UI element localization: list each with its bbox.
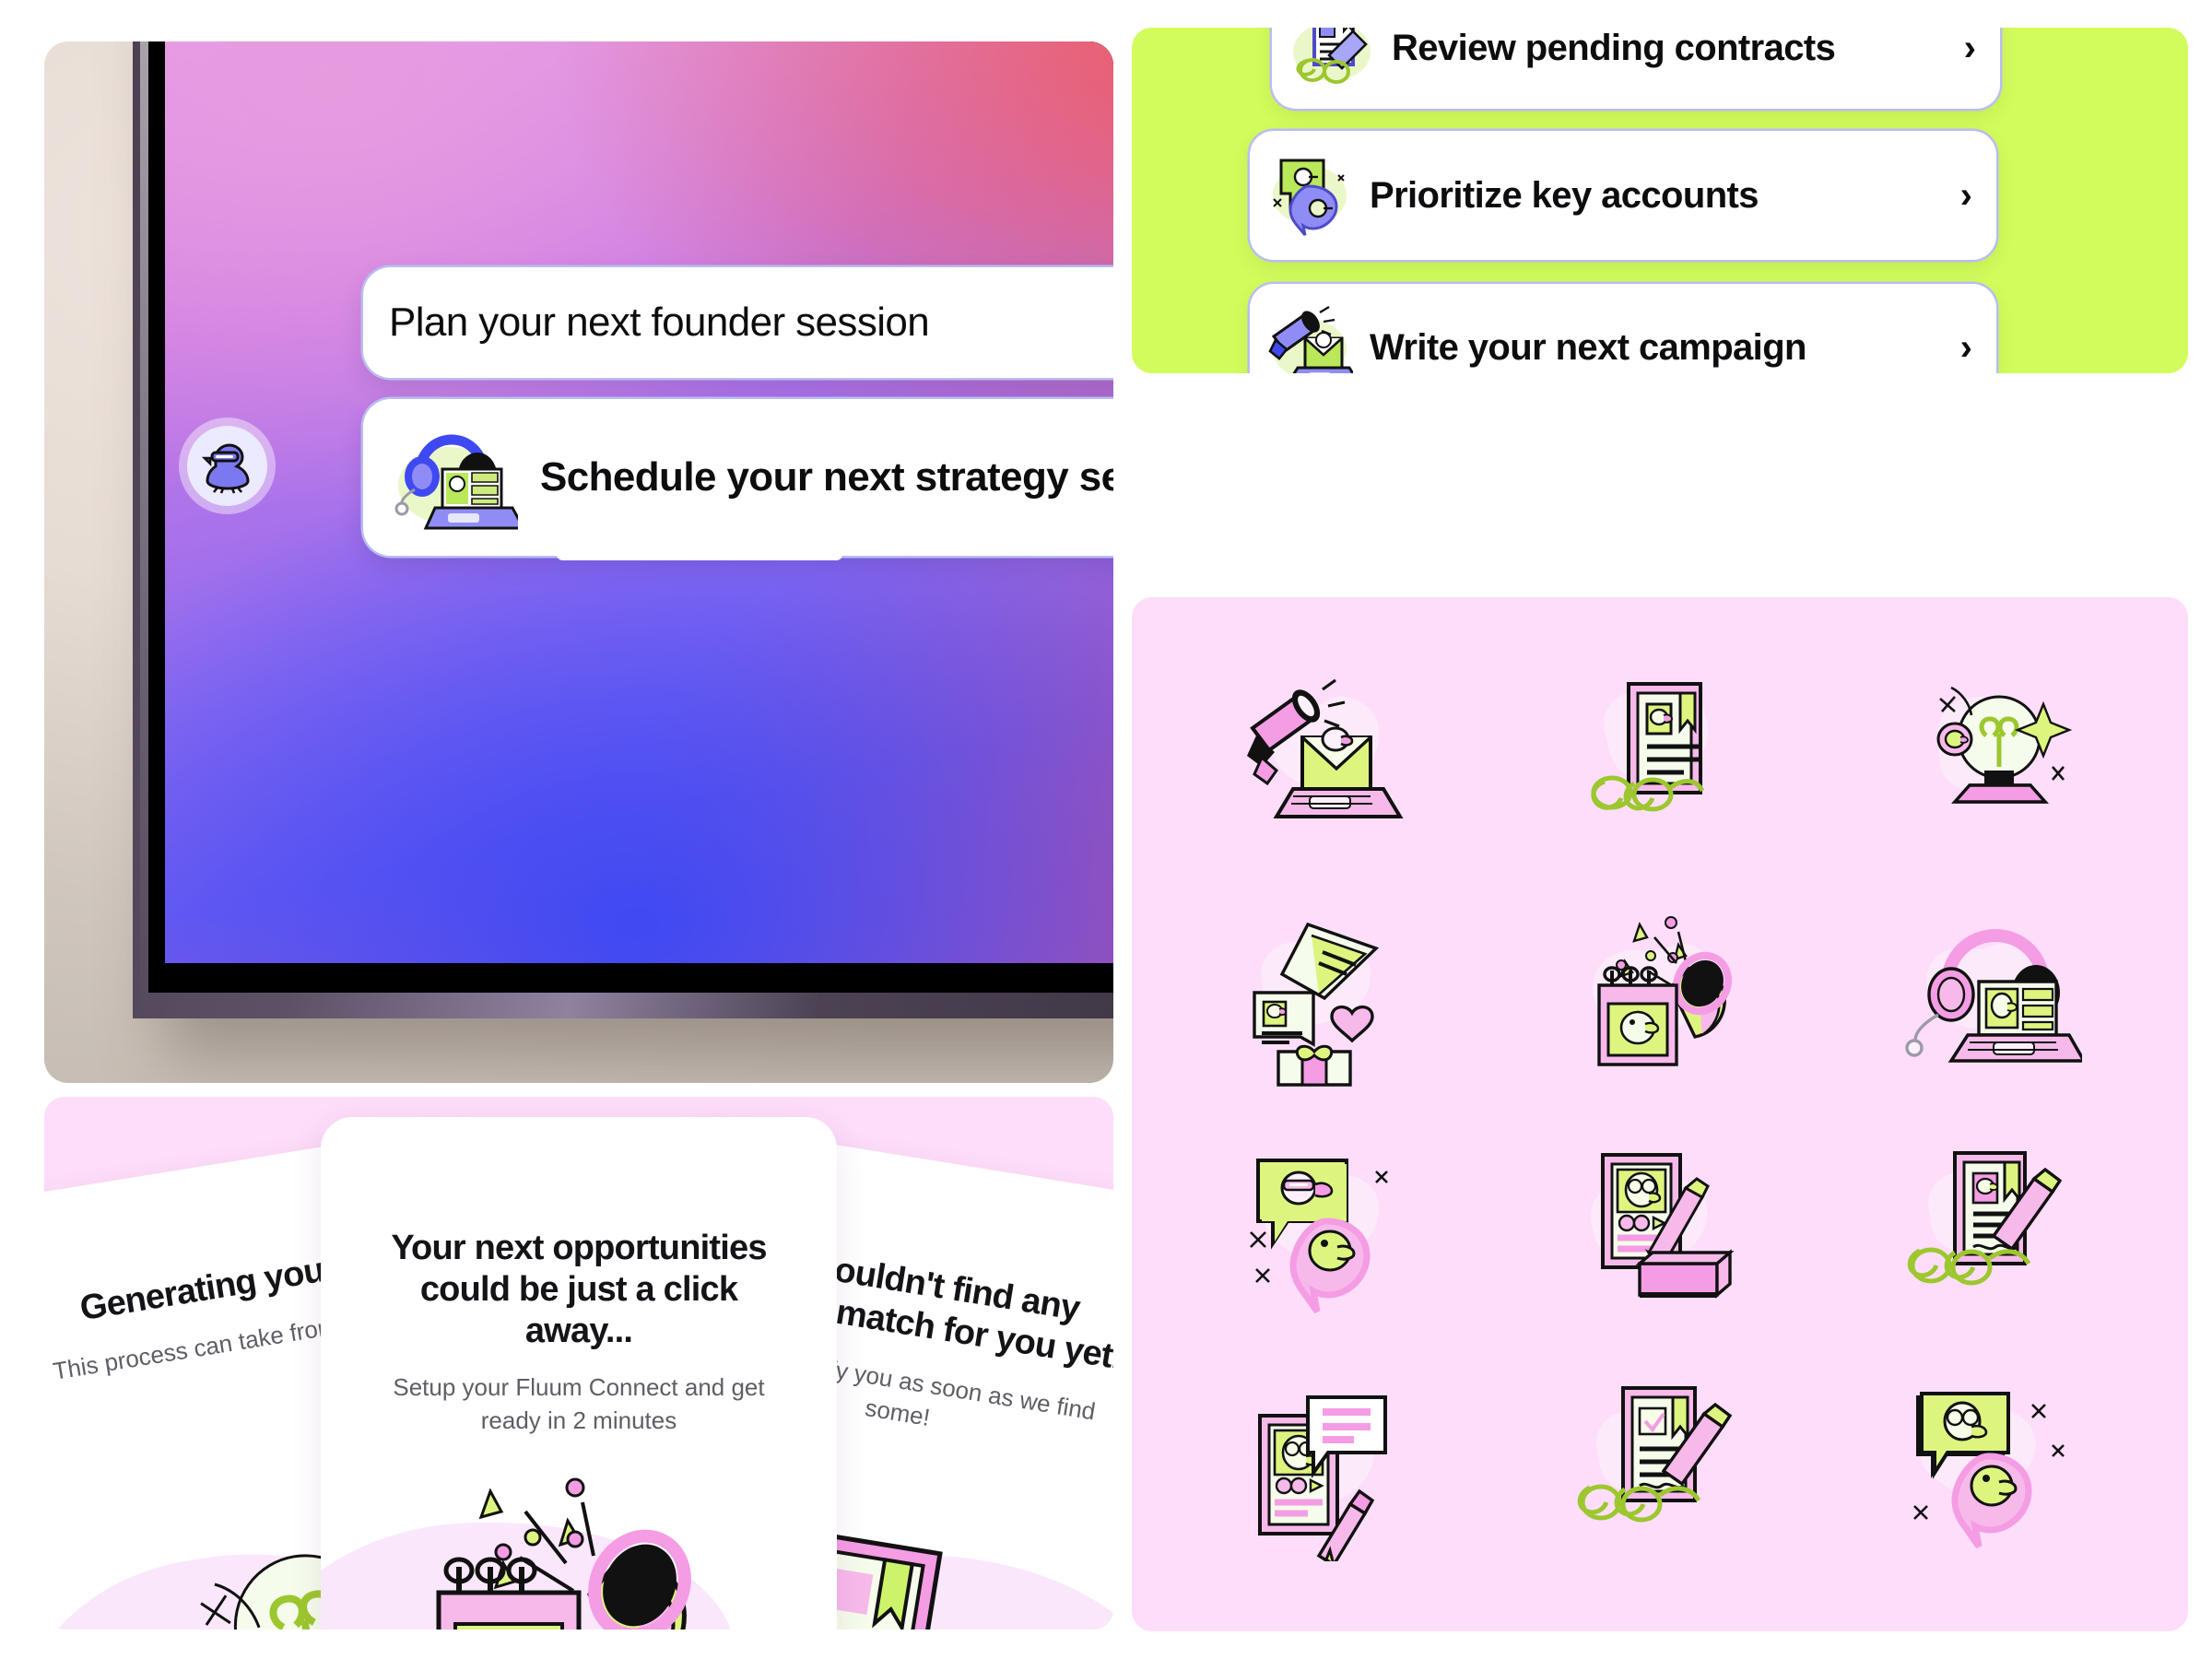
carousel-card-title: Your next opportunities could be just a … <box>374 1228 783 1351</box>
checklist-glasses-pencil-icon <box>1563 1372 1757 1566</box>
chevron-right-icon: › <box>1960 177 1972 214</box>
quick-action-review-pending-contracts[interactable]: Review pending contracts › <box>1272 28 2000 109</box>
phone-screen: Plan your next founder session <box>165 41 1113 963</box>
suggestion-card-label: Schedule your next strategy session <box>540 454 1113 500</box>
chat-bubble-duck-icon <box>1233 1135 1427 1329</box>
home-indicator <box>557 548 842 560</box>
document-glasses-bookmark-icon <box>1563 663 1757 856</box>
document-glasses-pencil-icon <box>1288 28 1375 93</box>
quick-action-label: Write your next campaign <box>1370 327 1944 369</box>
suggestion-card-plan-founder-session[interactable]: Plan your next founder session <box>363 267 1113 378</box>
calendar-party-popper-icon <box>321 1467 837 1630</box>
screenshot-root: Plan your next founder session <box>0 0 2212 1659</box>
headphones-laptop-icon <box>1893 900 2087 1093</box>
quick-actions-panel: Review pending contracts › <box>1132 28 2188 373</box>
suggestion-card-label: Plan your next founder session <box>389 300 929 346</box>
headphones-laptop-icon <box>389 418 518 538</box>
megaphone-laptop-icon <box>1266 303 1353 374</box>
document-glasses-pencil-icon <box>1893 1135 2087 1329</box>
quick-action-prioritize-key-accounts[interactable]: Prioritize key accounts › <box>1250 131 1996 260</box>
envelope-heart-gift-icon <box>1233 900 1427 1093</box>
illustration-grid-panel <box>1132 597 2188 1631</box>
megaphone-laptop-icon <box>1233 663 1427 856</box>
carousel-card-subtitle: Setup your Fluum Connect and get ready i… <box>374 1371 783 1436</box>
quick-action-write-your-next-campaign[interactable]: Write your next campaign › <box>1250 284 1996 373</box>
chat-duck-bubble-icon <box>1893 1372 2087 1566</box>
chat-bubble-duck-icon <box>1266 151 1353 241</box>
suggestion-card-schedule-strategy-session[interactable]: Schedule your next strategy session <box>363 399 1113 556</box>
phone-message-pencil-icon <box>1233 1372 1427 1566</box>
carousel-card-next-opportunities[interactable]: Your next opportunities could be just a … <box>321 1117 837 1630</box>
illustration-grid <box>1165 641 2155 1587</box>
duck-vr-avatar-icon[interactable] <box>187 426 267 506</box>
calendar-party-popper-icon <box>1563 900 1757 1093</box>
chevron-right-icon: › <box>1960 329 1972 366</box>
phone-mockup-panel: Plan your next founder session <box>44 41 1113 1083</box>
chevron-right-icon: › <box>1964 29 1976 66</box>
lightbulb-idea-icon <box>1893 663 2087 856</box>
card-carousel-panel: Generating your ICP This process can tak… <box>44 1097 1113 1630</box>
quick-action-label: Prioritize key accounts <box>1370 175 1944 217</box>
quick-action-label: Review pending contracts <box>1392 28 1947 69</box>
phone-pencil-book-icon <box>1563 1135 1757 1329</box>
